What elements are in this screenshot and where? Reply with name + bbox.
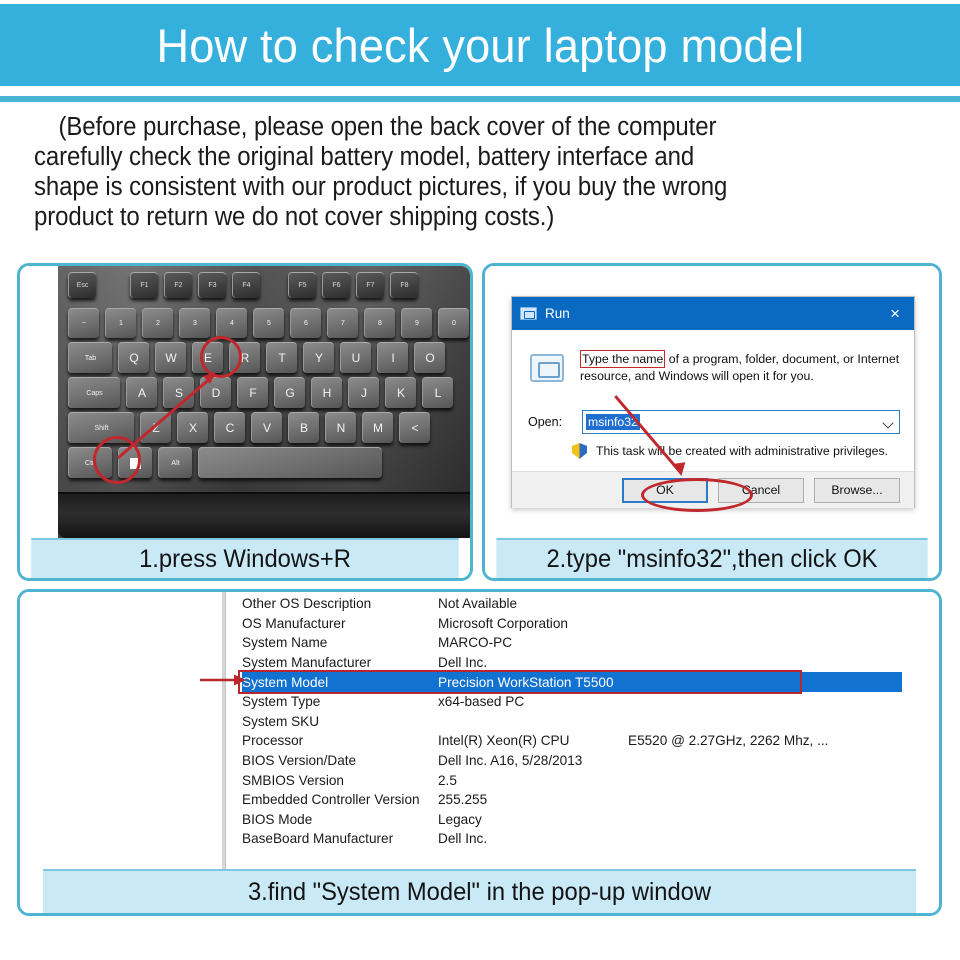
row-item-name: System Type — [242, 692, 438, 712]
row-item-value-extra: E5520 @ 2.27GHz, 2262 Mhz, ... — [628, 731, 902, 751]
table-row[interactable]: BIOS ModeLegacy — [242, 810, 902, 830]
key-f1: F1 — [130, 272, 158, 298]
row-item-value: Dell Inc. A16, 5/28/2013 — [438, 751, 628, 771]
row-item-value-extra — [628, 712, 902, 732]
row-item-name: Processor — [242, 731, 438, 751]
key-4: 4 — [216, 308, 247, 338]
intro-line-2: carefully check the original battery mod… — [34, 142, 880, 172]
page-title: How to check your laptop model — [156, 18, 804, 73]
run-description: Type the name of a program, folder, docu… — [580, 350, 900, 384]
key-0: 0 — [438, 308, 469, 338]
key-9: 9 — [401, 308, 432, 338]
key-tilde: ~ — [68, 308, 99, 338]
pointer-arrow-system-model — [198, 670, 248, 690]
open-label: Open: — [528, 415, 582, 429]
key-j: J — [348, 377, 379, 408]
key-8: 8 — [364, 308, 395, 338]
key-f7: F7 — [356, 272, 384, 298]
key-f2: F2 — [164, 272, 192, 298]
key-u: U — [340, 342, 371, 373]
table-row[interactable]: System ModelPrecision WorkStation T5500 — [242, 672, 902, 692]
key-y: Y — [303, 342, 334, 373]
key-5: 5 — [253, 308, 284, 338]
key-v: V — [251, 412, 282, 443]
key-f8: F8 — [390, 272, 418, 298]
run-dialog-screenshot: Run × Type the name of a program, folder… — [485, 266, 939, 538]
keyboard-row-qwerty: Tab Q W E R T Y U I O — [68, 342, 445, 373]
header-banner: How to check your laptop model — [0, 4, 960, 86]
step2-panel: Run × Type the name of a program, folder… — [482, 263, 942, 581]
key-esc: Esc — [68, 272, 96, 298]
row-item-value-extra — [628, 770, 902, 790]
page-root: How to check your laptop model (Before p… — [0, 0, 960, 960]
row-item-value: Dell Inc. — [438, 829, 628, 849]
table-row[interactable]: System NameMARCO-PC — [242, 633, 902, 653]
run-title-text: Run — [545, 306, 570, 321]
row-item-name: BIOS Mode — [242, 810, 438, 830]
row-item-name: System SKU — [242, 712, 438, 732]
row-item-value-extra — [628, 594, 902, 614]
step3-body: Other OS DescriptionNot AvailableOS Manu… — [20, 592, 939, 913]
row-item-value: 255.255 — [438, 790, 628, 810]
msinfo32-screenshot: Other OS DescriptionNot AvailableOS Manu… — [20, 592, 939, 873]
row-item-name: System Manufacturer — [242, 653, 438, 673]
key-c: C — [214, 412, 245, 443]
pane-divider — [222, 592, 226, 873]
row-item-value-extra — [628, 751, 902, 771]
row-item-value: Dell Inc. — [438, 653, 628, 673]
row-item-value: Microsoft Corporation — [438, 614, 628, 634]
row-item-value-extra — [628, 633, 902, 653]
highlight-ellipse-ok-button — [641, 478, 753, 512]
key-t: T — [266, 342, 297, 373]
key-f6: F6 — [322, 272, 350, 298]
highlight-circle-r-key — [200, 336, 242, 378]
key-b: B — [288, 412, 319, 443]
step2-body: Run × Type the name of a program, folder… — [485, 266, 939, 578]
row-item-name: System Name — [242, 633, 438, 653]
row-item-value-extra — [628, 790, 902, 810]
header-rule — [0, 96, 960, 102]
key-n: N — [325, 412, 356, 443]
key-s: S — [163, 377, 194, 408]
key-h: H — [311, 377, 342, 408]
close-icon[interactable]: × — [884, 305, 906, 322]
run-app-icon — [520, 307, 537, 320]
run-dialog: Run × Type the name of a program, folder… — [511, 296, 915, 508]
table-row[interactable]: SMBIOS Version2.5 — [242, 770, 902, 790]
shield-icon — [572, 443, 587, 459]
key-o: O — [414, 342, 445, 373]
step3-caption: 3.find "System Model" in the pop-up wind… — [43, 869, 916, 913]
key-w: W — [155, 342, 186, 373]
key-d: D — [200, 377, 231, 408]
chevron-down-icon[interactable] — [882, 417, 893, 428]
keyboard-photo: Esc F1 F2 F3 F4 F5 F6 F7 F8 ~ 1 2 — [58, 266, 473, 538]
intro-line-3: shape is consistent with our product pic… — [34, 172, 880, 202]
key-k: K — [385, 377, 416, 408]
row-item-value: Not Available — [438, 594, 628, 614]
key-a: A — [126, 377, 157, 408]
run-dialog-body: Type the name of a program, folder, docu… — [512, 330, 914, 471]
browse-button[interactable]: Browse... — [814, 478, 900, 503]
key-space — [198, 447, 382, 478]
table-row[interactable]: Embedded Controller Version255.255 — [242, 790, 902, 810]
key-f: F — [237, 377, 268, 408]
row-item-value-extra — [628, 614, 902, 634]
keyboard-row-home: Caps A S D F G H J K L — [68, 377, 453, 408]
key-7: 7 — [327, 308, 358, 338]
step1-caption: 1.press Windows+R — [31, 538, 459, 578]
table-row[interactable]: BaseBoard ManufacturerDell Inc. — [242, 829, 902, 849]
step1-panel: Esc F1 F2 F3 F4 F5 F6 F7 F8 ~ 1 2 — [17, 263, 473, 581]
intro-line-1: (Before purchase, please open the back c… — [34, 112, 880, 142]
step3-panel: Other OS DescriptionNot AvailableOS Manu… — [17, 589, 942, 916]
key-g: G — [274, 377, 305, 408]
row-item-value — [438, 712, 628, 732]
key-l: L — [422, 377, 453, 408]
run-titlebar: Run × — [512, 297, 914, 330]
run-description-highlight: Type the name — [580, 350, 665, 368]
row-item-value-extra — [628, 692, 902, 712]
row-item-name: Other OS Description — [242, 594, 438, 614]
keyboard-palm-rest — [58, 492, 473, 538]
row-item-value-extra — [628, 810, 902, 830]
table-row[interactable]: System ManufacturerDell Inc. — [242, 653, 902, 673]
run-window-icon — [530, 354, 564, 382]
run-uac-notice: This task will be created with administr… — [572, 443, 888, 459]
key-z: Z — [140, 412, 171, 443]
row-item-value-extra — [628, 829, 902, 849]
row-item-name: BaseBoard Manufacturer — [242, 829, 438, 849]
row-item-name: SMBIOS Version — [242, 770, 438, 790]
row-item-name: System Model — [242, 672, 438, 692]
system-summary-table: Other OS DescriptionNot AvailableOS Manu… — [242, 594, 902, 849]
table-row[interactable]: Other OS DescriptionNot Available — [242, 594, 902, 614]
key-2: 2 — [142, 308, 173, 338]
row-item-value: 2.5 — [438, 770, 628, 790]
step2-caption: 2.type "msinfo32",then click OK — [496, 538, 927, 578]
row-item-value: Intel(R) Xeon(R) CPU — [438, 731, 628, 751]
key-q: Q — [118, 342, 149, 373]
key-x: X — [177, 412, 208, 443]
key-f5: F5 — [288, 272, 316, 298]
key-alt: Alt — [158, 447, 192, 478]
intro-paragraph: (Before purchase, please open the back c… — [34, 112, 880, 232]
row-item-name: BIOS Version/Date — [242, 751, 438, 771]
table-row[interactable]: ProcessorIntel(R) Xeon(R) CPUE5520 @ 2.2… — [242, 731, 902, 751]
keyboard-row-number: ~ 1 2 3 4 5 6 7 8 9 0 — [68, 308, 469, 338]
step1-body: Esc F1 F2 F3 F4 F5 F6 F7 F8 ~ 1 2 — [20, 266, 470, 578]
row-item-name: OS Manufacturer — [242, 614, 438, 634]
row-item-value: MARCO-PC — [438, 633, 628, 653]
key-caps-lock: Caps — [68, 377, 120, 408]
key-f4: F4 — [232, 272, 260, 298]
run-uac-text: This task will be created with administr… — [596, 444, 888, 458]
intro-line-4: product to return we do not cover shippi… — [34, 202, 880, 232]
row-item-value: Precision WorkStation T5500 — [438, 672, 628, 692]
table-row[interactable]: BIOS Version/DateDell Inc. A16, 5/28/201… — [242, 751, 902, 771]
key-1: 1 — [105, 308, 136, 338]
key-m: M — [362, 412, 393, 443]
key-f3: F3 — [198, 272, 226, 298]
keyboard-row-function: Esc F1 F2 F3 F4 F5 F6 F7 F8 — [68, 272, 418, 298]
row-item-name: Embedded Controller Version — [242, 790, 438, 810]
key-i: I — [377, 342, 408, 373]
highlight-circle-windows-key — [93, 436, 141, 484]
row-item-value: x64-based PC — [438, 692, 628, 712]
open-combobox[interactable]: msinfo32 — [582, 410, 900, 434]
row-item-value-extra — [628, 653, 902, 673]
table-row[interactable]: OS ManufacturerMicrosoft Corporation — [242, 614, 902, 634]
row-item-value-extra — [628, 672, 902, 692]
key-comma: < — [399, 412, 430, 443]
table-row[interactable]: System Typex64-based PC — [242, 692, 902, 712]
key-3: 3 — [179, 308, 210, 338]
table-row[interactable]: System SKU — [242, 712, 902, 732]
run-open-row: Open: msinfo32 — [528, 410, 900, 434]
key-tab: Tab — [68, 342, 112, 373]
open-input-value[interactable]: msinfo32 — [586, 414, 640, 430]
key-6: 6 — [290, 308, 321, 338]
row-item-value: Legacy — [438, 810, 628, 830]
